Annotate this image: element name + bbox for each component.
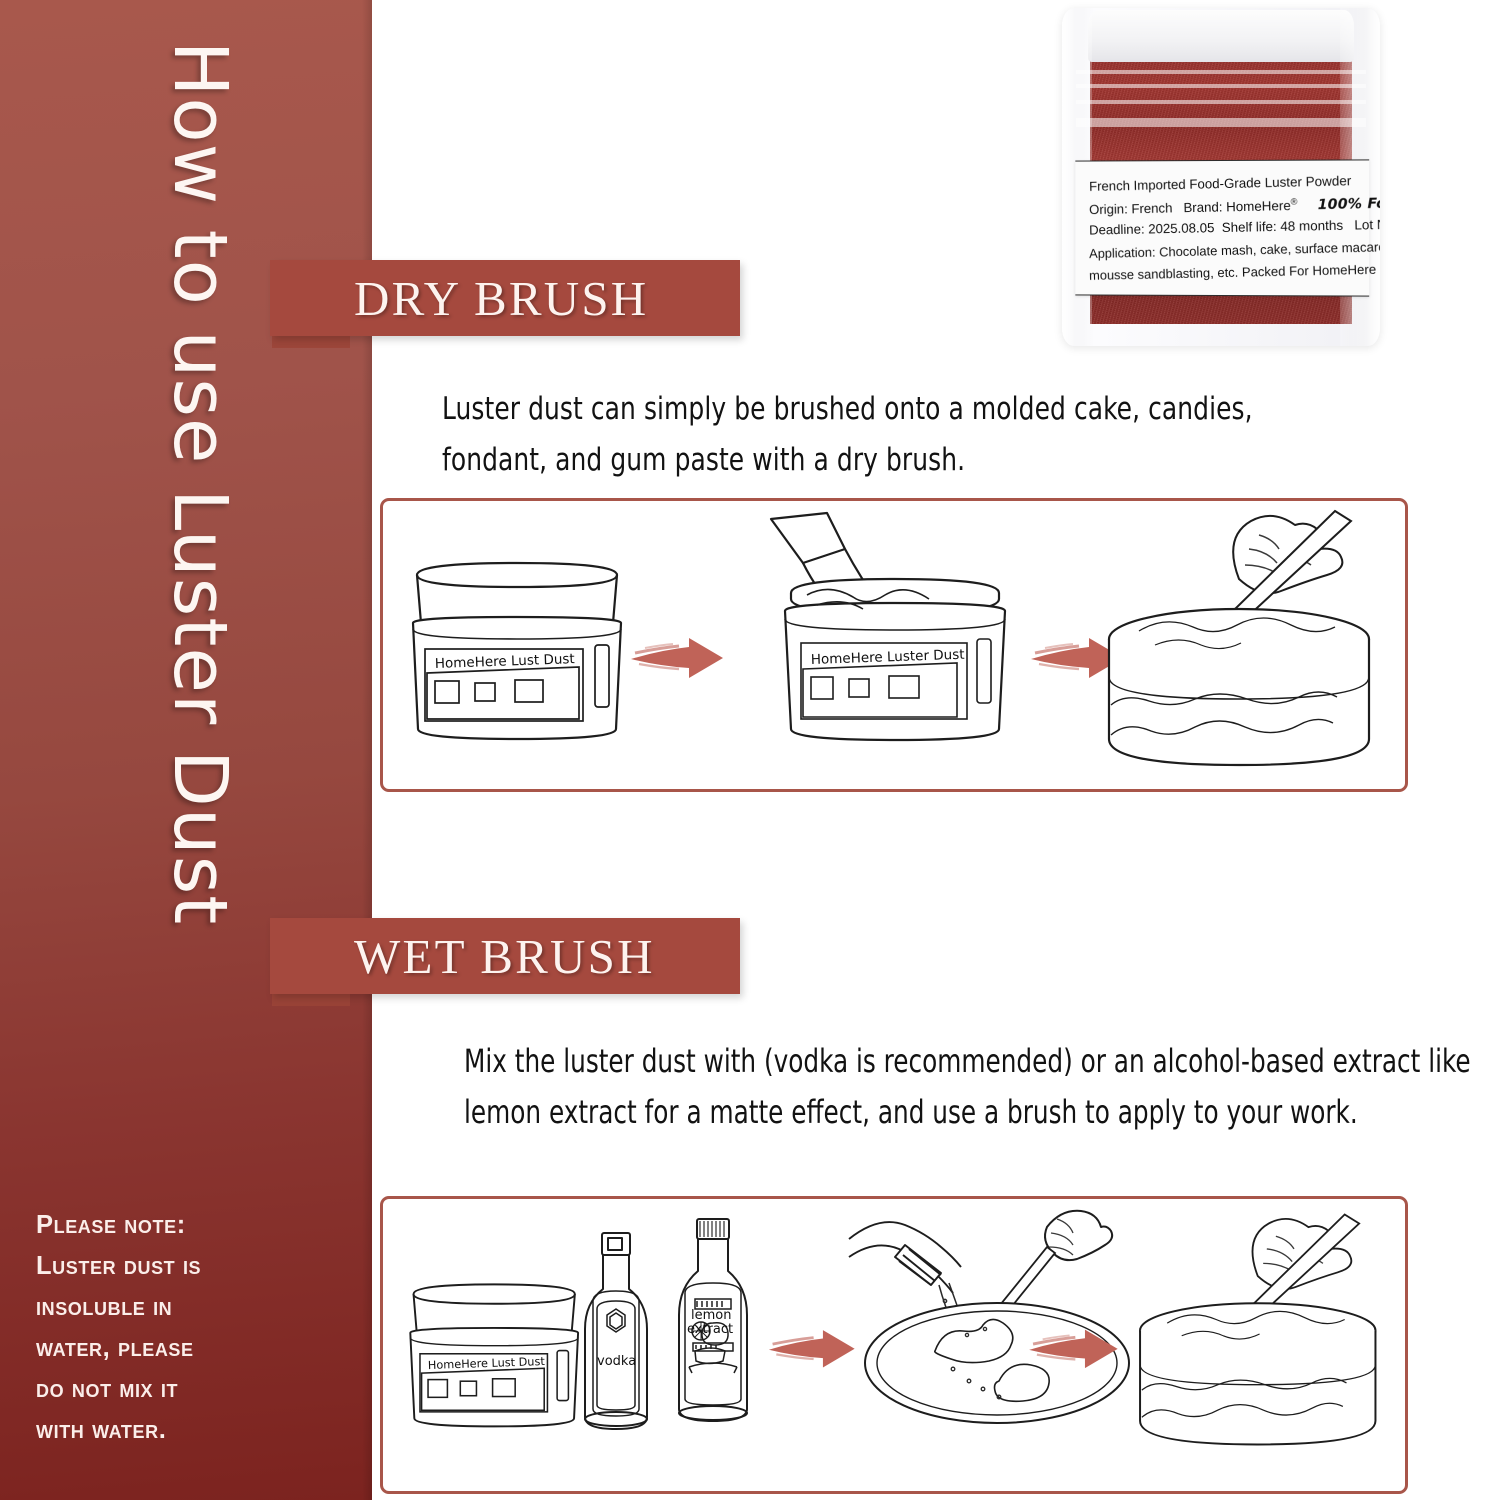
main-content: French Imported Food-Grade Luster Powder… — [372, 0, 1500, 1500]
note-line-5: do not mix it — [36, 1369, 336, 1410]
label-line-application-2: mousse sandblasting, etc. Packed For Hom… — [1089, 262, 1359, 283]
illustration-open-jar-with-brush: HomeHere Luster Dust — [757, 511, 1007, 759]
illustration-hand-brushing-cake-wet — [1131, 1209, 1399, 1459]
wet-brush-title: WET BRUSH — [354, 928, 655, 985]
dry-brush-banner: DRY BRUSH — [270, 260, 740, 336]
label-line-origin-brand: Origin: French Brand: HomeHere®100% Food… — [1089, 195, 1359, 218]
dry-brush-body-text: Luster dust can simply be brushed onto a… — [442, 384, 1362, 486]
arrow-icon-4 — [1025, 1321, 1143, 1376]
label-brand: Brand: HomeHere — [1183, 198, 1291, 215]
please-note-block: Please note: Luster dust is insoluble in… — [36, 1205, 336, 1451]
wet-brush-illustration-panel: HomeHere Lust Dust vodka — [380, 1196, 1408, 1494]
label-line-dates: Deadline: 2025.08.05 Shelf life: 48 mont… — [1089, 217, 1359, 237]
jar-ring-3 — [1076, 100, 1366, 104]
note-line-6: with water. — [36, 1410, 336, 1451]
lemon-extract-line-2: extract — [687, 1322, 733, 1337]
jar-lid — [1088, 10, 1354, 62]
label-origin: Origin: French — [1089, 200, 1173, 217]
illustration-closed-jar-wet: HomeHere Lust Dust — [399, 1267, 591, 1447]
jar-body: French Imported Food-Grade Luster Powder… — [1062, 8, 1380, 346]
label-line-application-1: Application: Chocolate mash, cake, surfa… — [1089, 240, 1359, 261]
note-line-1: Please note: — [36, 1205, 336, 1246]
jar-ring-1 — [1076, 70, 1366, 74]
wet-brush-banner: WET BRUSH — [270, 918, 740, 994]
label-deadline: Deadline: 2025.08.05 — [1089, 220, 1215, 237]
label-line-title: French Imported Food-Grade Luster Powder — [1089, 173, 1359, 194]
note-line-3: insoluble in — [36, 1287, 336, 1328]
label-food-grade-badge: 100% Food Grade — [1317, 194, 1380, 213]
page-title-vertical: How to use Luster Dust — [157, 0, 243, 983]
note-line-2: Luster dust is — [36, 1246, 336, 1287]
wet-brush-body-text: Mix the luster dust with (vodka is recom… — [464, 1036, 1479, 1138]
dry-brush-illustration-panel: HomeHere Lust Dust — [380, 498, 1408, 792]
product-jar-photo: French Imported Food-Grade Luster Powder… — [1032, 2, 1404, 352]
product-label: French Imported Food-Grade Luster Powder… — [1075, 159, 1369, 296]
dry-brush-title: DRY BRUSH — [354, 270, 648, 327]
vodka-bottle-label-text: vodka — [597, 1354, 636, 1369]
label-lot-no: Lot No:910609 — [1354, 216, 1380, 233]
illustration-lemon-extract-bottle: lemon extract — [671, 1215, 755, 1447]
illustration-vodka-bottle: vodka — [577, 1229, 655, 1447]
sidebar: How to use Luster Dust Please note: Lust… — [0, 0, 372, 1500]
arrow-icon-1 — [629, 629, 747, 686]
note-line-4: water, please — [36, 1328, 336, 1369]
jar-ring-4 — [1076, 118, 1366, 127]
jar-ring-2 — [1076, 84, 1366, 88]
lemon-extract-line-1: lemon — [691, 1308, 731, 1323]
label-shelf-life: Shelf life: 48 months — [1222, 218, 1344, 235]
illustration-hand-brushing-cake-dry — [1099, 509, 1395, 777]
registered-icon: ® — [1291, 196, 1298, 206]
illustration-closed-jar: HomeHere Lust Dust — [399, 553, 637, 753]
